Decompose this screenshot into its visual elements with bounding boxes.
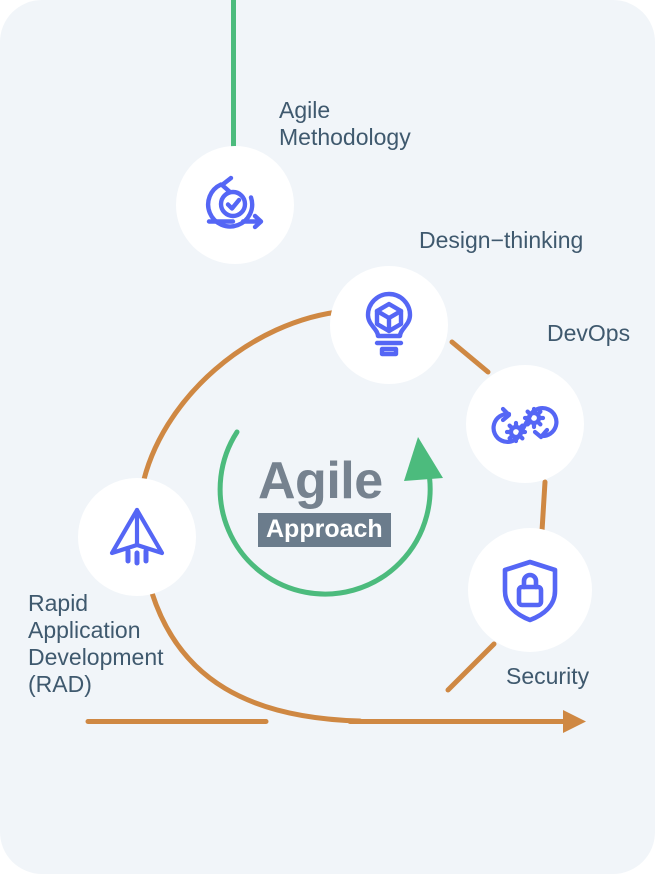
lightbulb-cube-icon [355, 291, 423, 359]
node-label-devops: DevOps [547, 320, 630, 347]
shield-lock-icon [494, 554, 566, 626]
orange-segment-design-to-devops [452, 342, 488, 372]
node-rapid-application-development[interactable] [78, 478, 196, 596]
node-security[interactable] [468, 528, 592, 652]
node-label-security: Security [506, 663, 589, 690]
diagram-card: Agile Methodology Design−thinking [0, 0, 655, 874]
refresh-check-arrow-icon [199, 169, 271, 241]
infinity-gears-icon [489, 388, 561, 460]
center-title: Agile [258, 455, 458, 507]
node-label-agile-methodology: Agile Methodology [279, 97, 411, 151]
node-label-design-thinking: Design−thinking [419, 227, 583, 254]
orange-segment-devops-to-security [542, 482, 545, 531]
node-design-thinking[interactable] [330, 266, 448, 384]
center-subtitle: Approach [258, 513, 391, 547]
orange-bottom-arrow-head [563, 710, 586, 733]
paper-plane-icon [104, 504, 170, 570]
orange-curve-rad-to-bottom [152, 593, 360, 721]
center-title-block: Agile Approach [258, 455, 458, 547]
node-agile-methodology[interactable] [176, 146, 294, 264]
node-label-rapid-application-development: Rapid Application Development (RAD) [28, 590, 164, 698]
node-devops[interactable] [466, 365, 584, 483]
orange-segment-security-to-bottom [448, 644, 494, 690]
